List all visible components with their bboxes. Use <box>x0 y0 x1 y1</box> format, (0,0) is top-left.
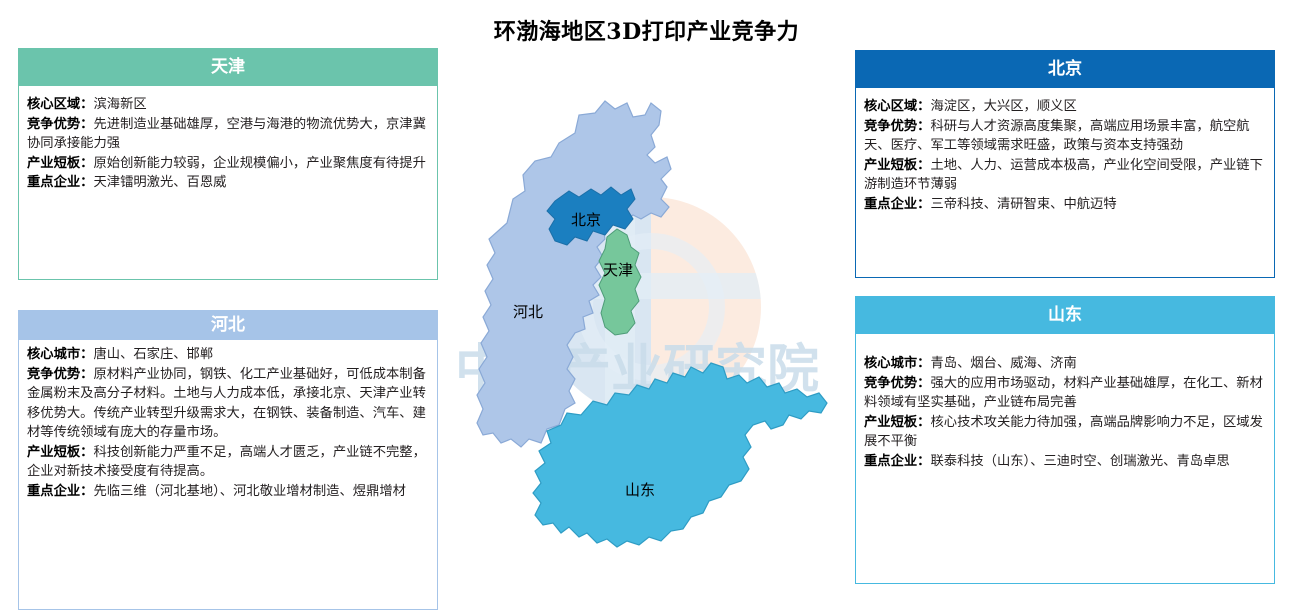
map-label-beijing: 北京 <box>571 211 601 229</box>
panel-beijing: 北京 核心区域：海淀区，大兴区，顺义区 竞争优势：科研与人才资源高度集聚，高端应… <box>855 50 1275 278</box>
row-advantage: 竞争优势：强大的应用市场驱动，材料产业基础雄厚，在化工、新材料领域有坚实基础，产… <box>864 374 1266 413</box>
row-label: 竞争优势： <box>27 117 93 132</box>
row-text: 原始创新能力较弱，企业规模偏小，产业聚焦度有待提升 <box>93 156 425 171</box>
row-label: 产业短板： <box>27 156 93 171</box>
row-label: 核心城市： <box>27 347 93 362</box>
row-text: 先临三维（河北基地）、河北敬业增材制造、煜鼎增材 <box>93 484 405 499</box>
row-text: 海淀区，大兴区，顺义区 <box>930 99 1076 114</box>
row-core-city: 核心城市：唐山、石家庄、邯郸 <box>27 345 429 365</box>
map-label-shandong: 山东 <box>625 481 655 499</box>
panel-shandong: 山东 核心城市：青岛、烟台、威海、济南 竞争优势：强大的应用市场驱动，材料产业基… <box>855 296 1275 584</box>
panel-hebei: 河北 核心城市：唐山、石家庄、邯郸 竞争优势：原材料产业协同，钢铁、化工产业基础… <box>18 310 438 610</box>
row-label: 核心区域： <box>27 97 93 112</box>
row-key-companies: 重点企业：三帝科技、清研智束、中航迈特 <box>864 195 1266 215</box>
map-label-tianjin: 天津 <box>603 261 633 279</box>
panel-tianjin: 天津 核心区域：滨海新区 竞争优势：先进制造业基础雄厚，空港与海港的物流优势大，… <box>18 48 438 280</box>
bohai-rim-map: 中商产业研究院 北京 天津 河北 山东 <box>455 95 845 575</box>
panel-beijing-body: 核心区域：海淀区，大兴区，顺义区 竞争优势：科研与人才资源高度集聚，高端应用场景… <box>855 88 1275 278</box>
row-advantage: 竞争优势：先进制造业基础雄厚，空港与海港的物流优势大，京津冀协同承接能力强 <box>27 115 429 154</box>
panel-shandong-body: 核心城市：青岛、烟台、威海、济南 竞争优势：强大的应用市场驱动，材料产业基础雄厚… <box>855 334 1275 584</box>
row-weakness: 产业短板：核心技术攻关能力待加强，高端品牌影响力不足，区域发展不平衡 <box>864 413 1266 452</box>
row-key-companies: 重点企业：联泰科技（山东）、三迪时空、创瑞激光、青岛卓思 <box>864 452 1266 472</box>
panel-tianjin-header: 天津 <box>18 48 438 86</box>
row-text: 唐山、石家庄、邯郸 <box>93 347 213 362</box>
row-weakness: 产业短板：科技创新能力严重不足，高端人才匮乏，产业链不完整，企业对新技术接受度有… <box>27 443 429 482</box>
row-label: 重点企业： <box>864 454 930 469</box>
row-key-companies: 重点企业：天津镭明激光、百恩威 <box>27 173 429 193</box>
row-text: 三帝科技、清研智束、中航迈特 <box>930 197 1116 212</box>
row-core-city: 核心城市：青岛、烟台、威海、济南 <box>864 354 1266 374</box>
row-label: 产业短板： <box>27 445 93 460</box>
row-label: 核心区域： <box>864 99 930 114</box>
row-core-area: 核心区域：海淀区，大兴区，顺义区 <box>864 97 1266 117</box>
row-label: 竞争优势： <box>864 119 930 134</box>
row-weakness: 产业短板：土地、人力、运营成本极高，产业化空间受限，产业链下游制造环节薄弱 <box>864 156 1266 195</box>
row-core-area: 核心区域：滨海新区 <box>27 95 429 115</box>
row-label: 核心城市： <box>864 356 930 371</box>
map-label-hebei: 河北 <box>513 303 543 321</box>
row-label: 重点企业： <box>864 197 930 212</box>
row-text: 滨海新区 <box>93 97 146 112</box>
row-label: 产业短板： <box>864 158 930 173</box>
row-text: 青岛、烟台、威海、济南 <box>930 356 1076 371</box>
row-label: 重点企业： <box>27 175 93 190</box>
row-label: 竞争优势： <box>27 367 93 382</box>
row-text: 联泰科技（山东）、三迪时空、创瑞激光、青岛卓思 <box>930 454 1229 469</box>
row-key-companies: 重点企业：先临三维（河北基地）、河北敬业增材制造、煜鼎增材 <box>27 482 429 502</box>
page-title: 环渤海地区3D打印产业竞争力 <box>0 14 1293 46</box>
panel-beijing-header: 北京 <box>855 50 1275 88</box>
row-label: 竞争优势： <box>864 376 930 391</box>
row-weakness: 产业短板：原始创新能力较弱，企业规模偏小，产业聚焦度有待提升 <box>27 154 429 174</box>
row-label: 重点企业： <box>27 484 93 499</box>
row-label: 产业短板： <box>864 415 930 430</box>
panel-tianjin-body: 核心区域：滨海新区 竞争优势：先进制造业基础雄厚，空港与海港的物流优势大，京津冀… <box>18 86 438 280</box>
panel-hebei-body: 核心城市：唐山、石家庄、邯郸 竞争优势：原材料产业协同，钢铁、化工产业基础好，可… <box>18 340 438 610</box>
row-text: 天津镭明激光、百恩威 <box>93 175 226 190</box>
panel-shandong-header: 山东 <box>855 296 1275 334</box>
row-advantage: 竞争优势：原材料产业协同，钢铁、化工产业基础好，可低成本制备金属粉末及高分子材料… <box>27 365 429 443</box>
panel-hebei-header: 河北 <box>18 310 438 340</box>
row-advantage: 竞争优势：科研与人才资源高度集聚，高端应用场景丰富，航空航天、医疗、军工等领域需… <box>864 117 1266 156</box>
